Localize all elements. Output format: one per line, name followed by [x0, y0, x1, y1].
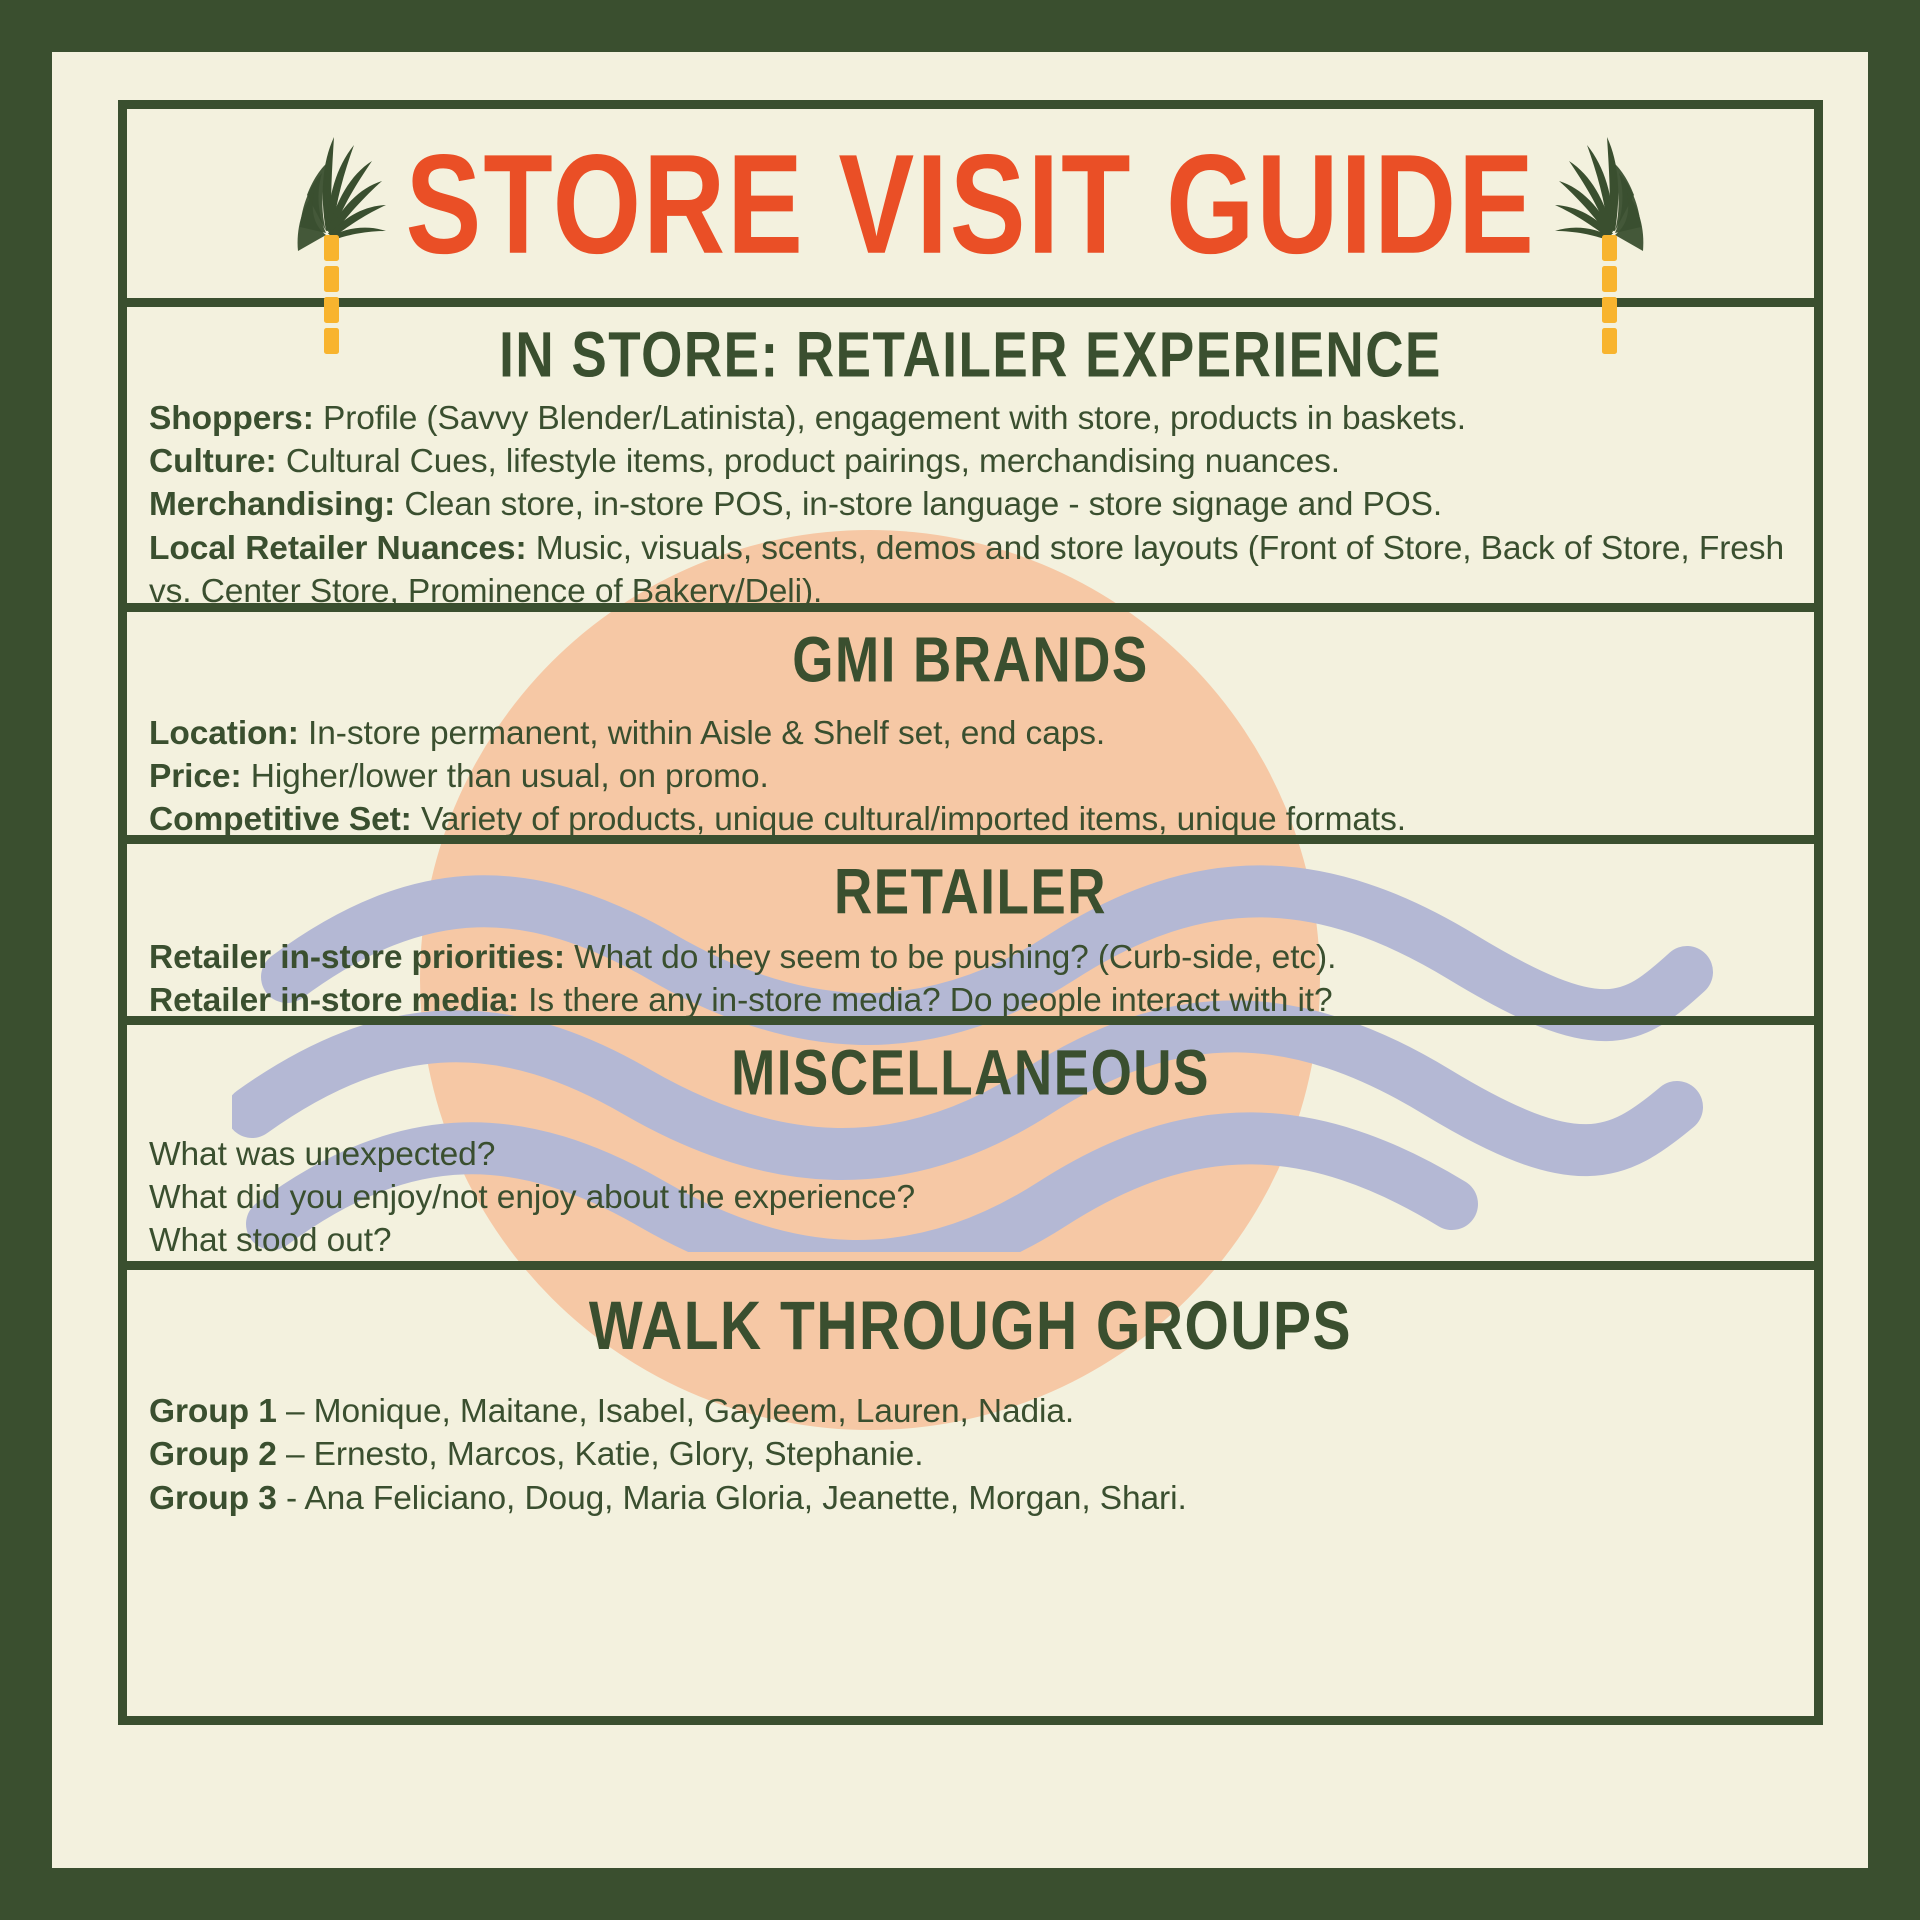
line-label: Group 1 — [149, 1393, 277, 1430]
body-line: Competitive Set: Variety of products, un… — [149, 798, 1794, 841]
line-text: What was unexpected? — [149, 1136, 495, 1173]
line-text: – Monique, Maitane, Isabel, Gayleem, Lau… — [277, 1393, 1074, 1430]
page-title: STORE VISIT GUIDE — [405, 133, 1535, 275]
line-label: Location: — [149, 715, 299, 752]
section-heading: IN STORE: RETAILER EXPERIENCE — [145, 307, 1796, 389]
line-text: - Ana Feliciano, Doug, Maria Gloria, Jea… — [277, 1480, 1187, 1517]
line-text: Clean store, in-store POS, in-store lang… — [395, 486, 1442, 523]
line-text: – Ernesto, Marcos, Katie, Glory, Stephan… — [277, 1436, 924, 1473]
section-heading: WALK THROUGH GROUPS — [145, 1270, 1796, 1361]
poster-title-bar: STORE VISIT GUIDE — [127, 109, 1814, 307]
line-label: Local Retailer Nuances: — [149, 530, 527, 567]
section-walk-through-groups: WALK THROUGH GROUPS Group 1 – Monique, M… — [127, 1270, 1814, 1525]
body-line: Group 3 - Ana Feliciano, Doug, Maria Glo… — [149, 1477, 1794, 1520]
line-text: What do they seem to be pushing? (Curb-s… — [565, 939, 1336, 976]
line-text: What stood out? — [149, 1222, 391, 1259]
line-label: Culture: — [149, 443, 277, 480]
section-retailer: RETAILER Retailer in-store priorities: W… — [127, 844, 1814, 1025]
section-in-store-retailer-experience: IN STORE: RETAILER EXPERIENCE Shoppers: … — [127, 307, 1814, 612]
line-text: Higher/lower than usual, on promo. — [242, 758, 769, 795]
line-text: Variety of products, unique cultural/imp… — [412, 801, 1406, 838]
poster-page: STORE VISIT GUIDE — [52, 52, 1868, 1868]
section-heading: GMI BRANDS — [145, 612, 1796, 694]
section-miscellaneous: MISCELLANEOUS What was unexpected? What … — [127, 1025, 1814, 1270]
body-line: Price: Higher/lower than usual, on promo… — [149, 755, 1794, 798]
line-text: Cultural Cues, lifestyle items, product … — [277, 443, 1340, 480]
body-line: Location: In-store permanent, within Ais… — [149, 712, 1794, 755]
line-label: Retailer in-store priorities: — [149, 939, 565, 976]
line-label: Group 2 — [149, 1436, 277, 1473]
body-line: What stood out? — [149, 1219, 1794, 1262]
section-body: Shoppers: Profile (Savvy Blender/Latinis… — [145, 397, 1796, 613]
poster-root: STORE VISIT GUIDE — [0, 0, 1920, 1920]
section-body: Group 1 – Monique, Maitane, Isabel, Gayl… — [145, 1390, 1796, 1520]
body-line: Group 2 – Ernesto, Marcos, Katie, Glory,… — [149, 1433, 1794, 1476]
section-body: Location: In-store permanent, within Ais… — [145, 712, 1796, 842]
body-line: Local Retailer Nuances: Music, visuals, … — [149, 527, 1794, 613]
line-text: Profile (Savvy Blender/Latinista), engag… — [314, 400, 1466, 437]
line-label: Competitive Set: — [149, 801, 412, 838]
line-text: What did you enjoy/not enjoy about the e… — [149, 1179, 915, 1216]
section-gmi-brands: GMI BRANDS Location: In-store permanent,… — [127, 612, 1814, 844]
section-body: Retailer in-store priorities: What do th… — [145, 936, 1796, 1022]
body-line: Retailer in-store priorities: What do th… — [149, 936, 1794, 979]
section-heading: RETAILER — [145, 844, 1796, 926]
line-text: In-store permanent, within Aisle & Shelf… — [299, 715, 1105, 752]
line-label: Shoppers: — [149, 400, 314, 437]
body-line: What was unexpected? — [149, 1133, 1794, 1176]
section-body: What was unexpected? What did you enjoy/… — [145, 1133, 1796, 1263]
line-text: Is there any in-store media? Do people i… — [519, 982, 1333, 1019]
body-line: Culture: Cultural Cues, lifestyle items,… — [149, 440, 1794, 483]
body-line: What did you enjoy/not enjoy about the e… — [149, 1176, 1794, 1219]
body-line: Retailer in-store media: Is there any in… — [149, 979, 1794, 1022]
line-label: Price: — [149, 758, 242, 795]
content-frame: STORE VISIT GUIDE — [118, 100, 1823, 1725]
line-label: Merchandising: — [149, 486, 395, 523]
body-line: Merchandising: Clean store, in-store POS… — [149, 483, 1794, 526]
line-label: Retailer in-store media: — [149, 982, 519, 1019]
section-heading: MISCELLANEOUS — [145, 1025, 1796, 1107]
body-line: Shoppers: Profile (Savvy Blender/Latinis… — [149, 397, 1794, 440]
body-line: Group 1 – Monique, Maitane, Isabel, Gayl… — [149, 1390, 1794, 1433]
line-label: Group 3 — [149, 1480, 277, 1517]
